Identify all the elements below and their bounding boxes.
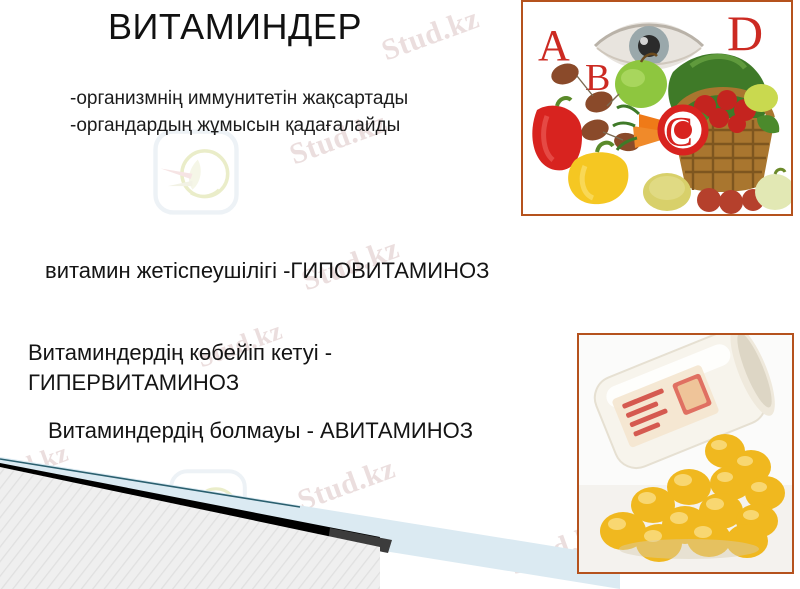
svg-text:D: D bbox=[727, 5, 763, 61]
pill-bottle-illustration bbox=[579, 335, 792, 572]
slide-canvas: Stud.kz Stud.kz Stud.kz Stud.kz Stud.kz … bbox=[0, 0, 800, 589]
hypervitaminosis-text: Витаминдердің көбейіп кетуі - ГИПЕРВИТАМ… bbox=[28, 338, 332, 397]
list-item: -органдардың жұмысын қадағалайды bbox=[70, 113, 408, 140]
vitamins-food-image: A B D bbox=[521, 0, 793, 216]
hummingbird-logo-icon bbox=[168, 468, 248, 548]
watermark-text: Stud.kz bbox=[0, 438, 73, 496]
vitamins-food-illustration: A B D bbox=[523, 2, 791, 214]
hypovitaminosis-text: витамин жетіспеушілігі -ГИПОВИТАМИНОЗ bbox=[45, 258, 489, 284]
list-item: -организмнің иммунитетін жақсартады bbox=[70, 86, 408, 113]
hypervitaminosis-line-1: Витаминдердің көбейіп кетуі - bbox=[28, 338, 332, 368]
svg-text:A: A bbox=[538, 21, 570, 70]
watermark-text: Stud.kz bbox=[293, 452, 400, 519]
avitaminosis-text: Витаминдердің болмауы - АВИТАМИНОЗ bbox=[48, 418, 473, 444]
page-title: ВИТАМИНДЕР bbox=[108, 6, 362, 47]
watermark-text: Stud.kz bbox=[377, 2, 484, 69]
svg-text:C: C bbox=[665, 110, 693, 156]
hummingbird-logo-icon bbox=[152, 128, 240, 216]
hypervitaminosis-line-2: ГИПЕРВИТАМИНОЗ bbox=[28, 368, 332, 398]
corner-decoration bbox=[0, 429, 620, 589]
pill-bottle-image bbox=[577, 333, 794, 574]
bullet-list: -организмнің иммунитетін жақсартады -орг… bbox=[70, 86, 408, 140]
